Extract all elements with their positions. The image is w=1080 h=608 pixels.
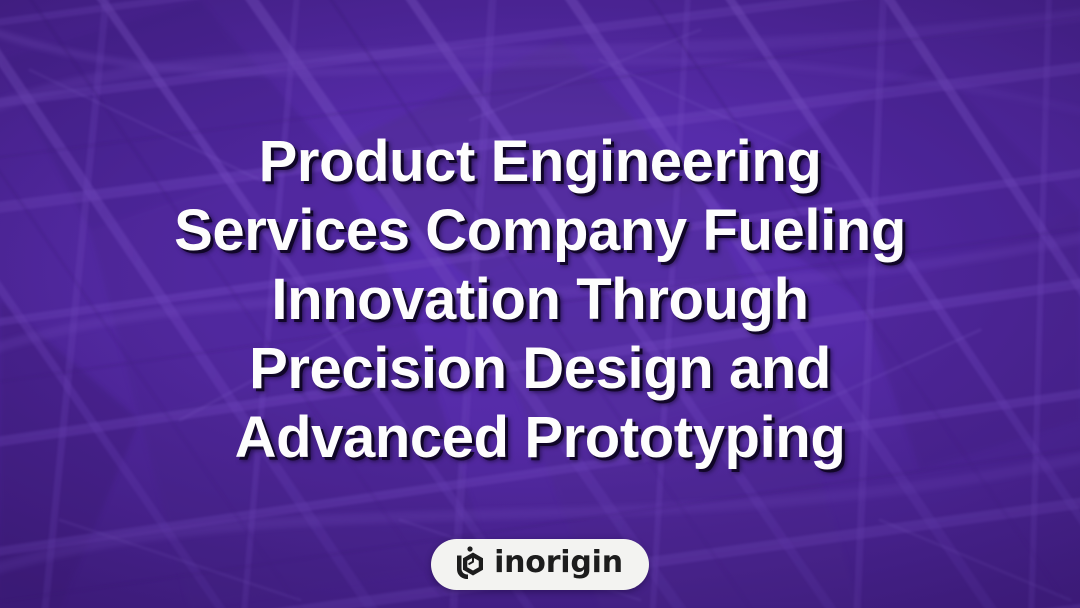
page-title: Product Engineering Services Company Fue… [110,127,970,472]
logo-area: inorigin [0,539,1080,590]
headline-line-5: Advanced Prototyping [110,403,970,472]
headline-line-2: Services Company Fueling [110,196,970,265]
headline-line-4: Precision Design and [110,334,970,403]
logo-badge[interactable]: inorigin [431,539,649,590]
logo-wordmark: inorigin [494,548,623,580]
headline-line-1: Product Engineering [110,127,970,196]
hexagon-cube-icon [451,546,485,582]
promo-banner: Product Engineering Services Company Fue… [0,0,1080,608]
headline-line-3: Innovation Through [110,265,970,334]
